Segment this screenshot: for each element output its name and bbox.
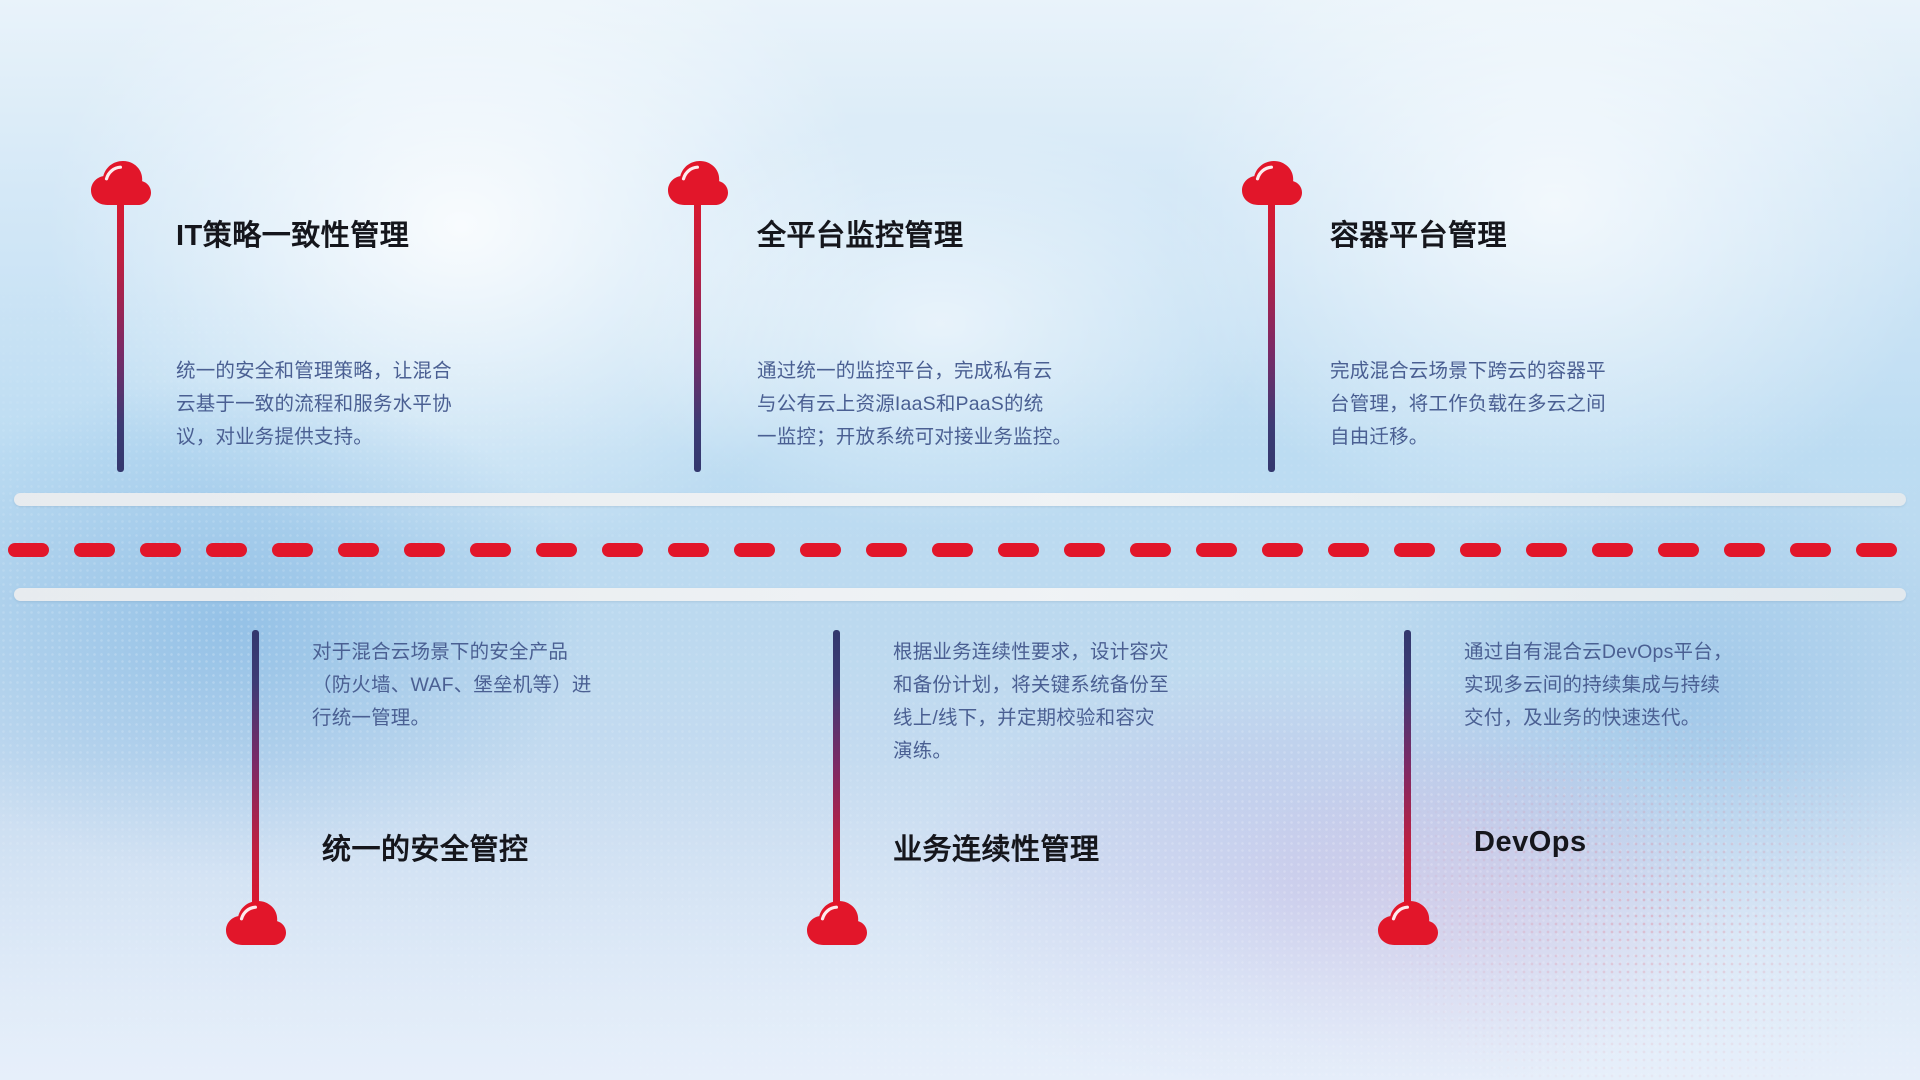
bottom-heading-1: 统一的安全管控 xyxy=(322,826,529,868)
divider-dash xyxy=(1064,543,1105,557)
divider-dash xyxy=(470,543,511,557)
divider-dash xyxy=(1460,543,1501,557)
divider-dash xyxy=(1592,543,1633,557)
divider-dash xyxy=(998,543,1039,557)
stem-bottom-1 xyxy=(252,630,259,920)
cloud-pin-icon xyxy=(225,900,287,946)
divider-dash xyxy=(1130,543,1171,557)
divider-dash xyxy=(272,543,313,557)
divider-dash xyxy=(1856,543,1897,557)
divider-dash xyxy=(866,543,907,557)
infographic-canvas: IT策略一致性管理 统一的安全和管理策略，让混合 云基于一致的流程和服务水平协 … xyxy=(0,0,1920,1080)
top-heading-2: 全平台监控管理 xyxy=(757,212,964,254)
bottom-heading-2: 业务连续性管理 xyxy=(893,826,1100,868)
bottom-body-2: 根据业务连续性要求，设计容灾 和备份计划，将关键系统备份至 线上/线下，并定期校… xyxy=(893,636,1333,768)
cloud-pin-icon xyxy=(1241,160,1303,206)
divider-dash xyxy=(734,543,775,557)
divider-dash xyxy=(140,543,181,557)
stem-top-3 xyxy=(1268,182,1275,472)
divider-dash xyxy=(404,543,445,557)
divider-dash xyxy=(1328,543,1369,557)
divider-dash xyxy=(668,543,709,557)
divider-dash xyxy=(602,543,643,557)
cloud-pin-icon xyxy=(667,160,729,206)
divider-dash xyxy=(1526,543,1567,557)
divider-dash xyxy=(1196,543,1237,557)
stem-top-1 xyxy=(117,182,124,472)
divider-dash xyxy=(1262,543,1303,557)
bottom-body-3: 通过自有混合云DevOps平台， 实现多云间的持续集成与持续 交付，及业务的快速… xyxy=(1464,636,1894,735)
stem-bottom-2 xyxy=(833,630,840,920)
cloud-pin-icon xyxy=(1377,900,1439,946)
divider-dash xyxy=(8,543,49,557)
top-body-3: 完成混合云场景下跨云的容器平 台管理，将工作负载在多云之间 自由迁移。 xyxy=(1330,355,1770,454)
divider-dash xyxy=(1658,543,1699,557)
stem-bottom-3 xyxy=(1404,630,1411,920)
divider-dash xyxy=(536,543,577,557)
top-body-1: 统一的安全和管理策略，让混合 云基于一致的流程和服务水平协 议，对业务提供支持。 xyxy=(176,355,616,454)
cloud-pin-icon xyxy=(806,900,868,946)
top-body-2: 通过统一的监控平台，完成私有云 与公有云上资源IaaS和PaaS的统 一监控；开… xyxy=(757,355,1217,454)
divider-dash xyxy=(1724,543,1765,557)
divider-dash xyxy=(932,543,973,557)
stem-top-2 xyxy=(694,182,701,472)
divider-dash xyxy=(74,543,115,557)
divider-dash xyxy=(1790,543,1831,557)
divider-dash xyxy=(206,543,247,557)
divider-dash xyxy=(338,543,379,557)
top-heading-3: 容器平台管理 xyxy=(1330,212,1507,254)
background-dot-texture-red xyxy=(0,0,1920,1080)
top-heading-1: IT策略一致性管理 xyxy=(176,212,409,254)
divider-dash xyxy=(800,543,841,557)
divider-dash xyxy=(1394,543,1435,557)
cloud-pin-icon xyxy=(90,160,152,206)
bottom-heading-3: DevOps xyxy=(1474,826,1587,859)
bottom-body-1: 对于混合云场景下的安全产品 （防火墙、WAF、堡垒机等）进 行统一管理。 xyxy=(312,636,752,735)
